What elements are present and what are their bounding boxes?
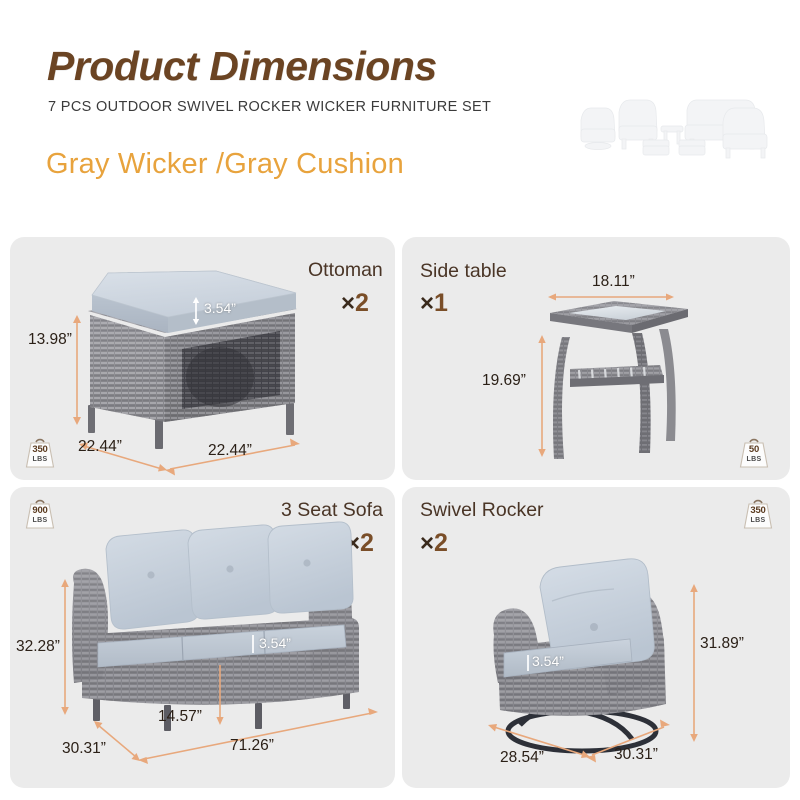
dimension-rocker-height: 31.89” [700, 635, 744, 653]
dimension-ottoman-cushion: 3.54” [204, 300, 236, 316]
panel-side-table[interactable]: Side table ×1 50 LBS [402, 237, 790, 480]
dimension-sofa-width: 71.26” [230, 737, 274, 755]
header: Product Dimensions 7 PCS OUTDOOR SWIVEL … [0, 0, 800, 225]
page-subtitle: 7 PCS OUTDOOR SWIVEL ROCKER WICKER FURNI… [48, 99, 491, 115]
panel-grid: Ottoman ×2 350 LBS [10, 237, 790, 788]
dimension-sofa-seat-height: 14.57” [158, 708, 202, 726]
dimension-rocker-cushion: 3.54” [532, 653, 564, 669]
dimension-side-table-height: 19.69” [482, 372, 526, 390]
dimension-rocker-depth: 28.54” [500, 749, 544, 767]
panel-swivel-rocker[interactable]: Swivel Rocker ×2 350 LBS [402, 487, 790, 788]
color-variant-label: Gray Wicker /Gray Cushion [46, 148, 404, 181]
dimension-sofa-cushion: 3.54” [259, 635, 291, 651]
dimension-ottoman-depth: 22.44” [78, 438, 122, 456]
dimension-ottoman-width: 22.44” [208, 442, 252, 460]
panel-three-seat-sofa[interactable]: 3 Seat Sofa ×2 900 LBS [10, 487, 395, 788]
furniture-set-thumbnail-icon [575, 82, 775, 164]
ottoman-illustration [10, 237, 395, 480]
dimension-ottoman-height: 13.98” [28, 331, 72, 349]
dimension-sofa-depth: 30.31” [62, 740, 106, 758]
dimension-rocker-width: 30.31” [614, 746, 658, 764]
dimension-sofa-height: 32.28” [16, 638, 60, 656]
page-title: Product Dimensions [47, 43, 437, 90]
dimension-side-table-width: 18.11” [592, 273, 635, 291]
product-dimensions-infographic: Product Dimensions 7 PCS OUTDOOR SWIVEL … [0, 0, 800, 800]
panel-ottoman[interactable]: Ottoman ×2 350 LBS [10, 237, 395, 480]
